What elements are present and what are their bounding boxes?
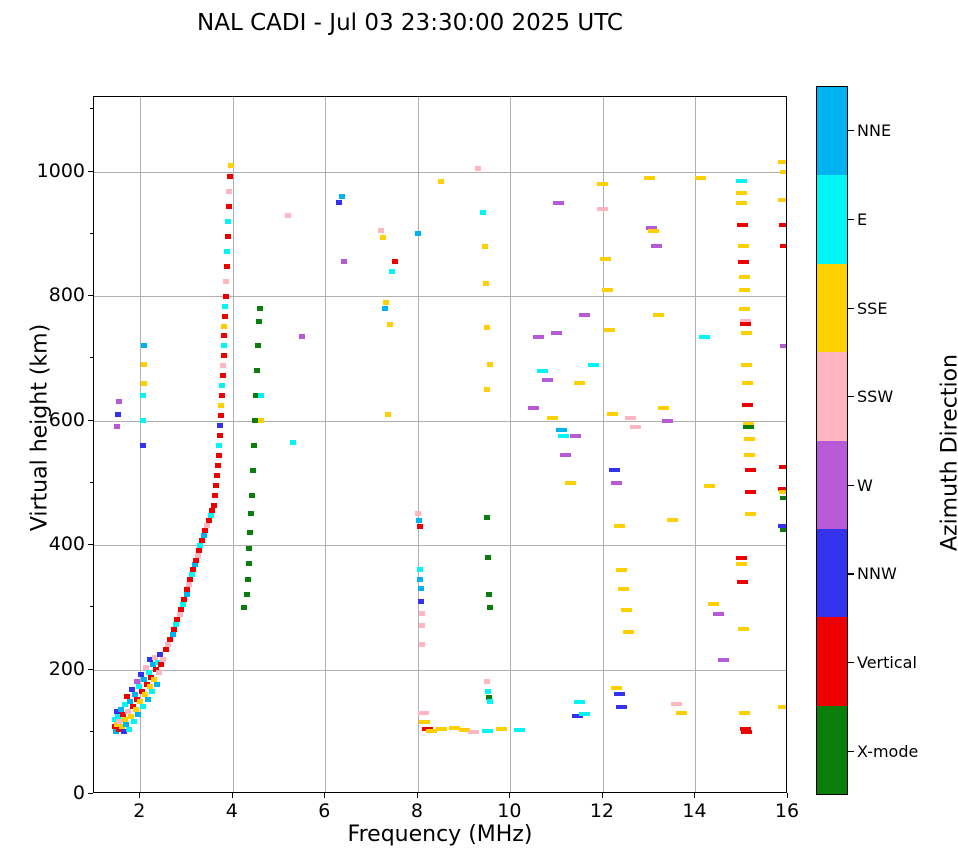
echo-point — [223, 279, 229, 284]
echo-point — [653, 313, 664, 317]
echo-point — [695, 176, 706, 180]
echo-point — [170, 632, 176, 637]
ytick-mark-600 — [88, 420, 93, 421]
echo-point — [163, 647, 169, 652]
echo-point — [607, 412, 618, 416]
ytick-minor-500 — [90, 482, 93, 483]
echo-point — [738, 627, 749, 631]
ytick-mark-1000 — [88, 171, 93, 172]
echo-point — [718, 658, 729, 662]
echo-point — [216, 453, 222, 458]
echo-point — [739, 307, 750, 311]
echo-point — [742, 381, 753, 385]
ytick-minor-900 — [90, 233, 93, 234]
x-axis-label: Frequency (MHz) — [93, 822, 787, 847]
echo-point — [736, 191, 747, 195]
echo-point — [778, 705, 787, 709]
echo-point — [574, 700, 585, 704]
colorbar — [816, 86, 848, 795]
echo-point — [299, 334, 305, 339]
echo-point — [484, 679, 490, 684]
echo-point — [158, 662, 164, 667]
echo-point — [141, 343, 147, 348]
echo-point — [201, 533, 207, 538]
colorbar-label: Azimuth Direction — [938, 203, 958, 703]
echo-point — [419, 623, 425, 628]
echo-point — [184, 592, 190, 597]
echo-point — [171, 627, 177, 632]
echo-point — [418, 586, 424, 591]
echo-point — [739, 711, 750, 715]
echo-point — [484, 325, 490, 330]
echo-point — [254, 368, 260, 373]
ytick-minor-100 — [90, 731, 93, 732]
echo-point — [542, 378, 553, 382]
colorbar-segment-x-mode — [817, 706, 847, 794]
echo-point — [378, 228, 384, 233]
echo-point — [487, 362, 493, 367]
echo-point — [485, 555, 491, 560]
echo-point — [392, 259, 398, 264]
echo-point — [475, 166, 481, 171]
echo-point — [743, 425, 754, 429]
echo-point — [553, 201, 564, 205]
echo-point — [651, 244, 662, 248]
echo-point — [579, 712, 590, 716]
echo-point — [202, 528, 208, 533]
echo-point — [199, 538, 205, 543]
echo-point — [780, 528, 787, 532]
echo-point — [285, 213, 291, 218]
echo-point — [221, 324, 227, 329]
echo-point — [140, 418, 146, 423]
echo-point — [244, 592, 250, 597]
echo-point — [671, 702, 682, 706]
echo-point — [225, 234, 231, 239]
echo-point — [744, 453, 755, 457]
colorbar-tick — [848, 662, 854, 663]
echo-point — [570, 434, 581, 438]
echo-point — [212, 493, 218, 498]
colorbar-label-ssw: SSW — [857, 387, 893, 406]
echo-point — [382, 306, 388, 311]
echo-point — [662, 419, 673, 423]
echo-point — [220, 373, 226, 378]
echo-point — [339, 194, 345, 199]
ionogram-figure: NAL CADI - Jul 03 23:30:00 2025 UTC 2468… — [0, 0, 958, 857]
echo-point — [213, 483, 219, 488]
echo-point — [154, 682, 160, 687]
echo-point — [602, 288, 613, 292]
colorbar-segment-nne — [817, 87, 847, 175]
echo-point — [623, 630, 634, 634]
echo-point — [780, 170, 787, 174]
echo-point — [218, 413, 224, 418]
echo-point — [387, 322, 393, 327]
echo-point — [487, 605, 493, 610]
echo-point — [180, 602, 186, 607]
echo-point — [736, 562, 747, 566]
echo-point — [187, 577, 193, 582]
echo-point — [258, 418, 264, 423]
xtick-label-4: 4 — [212, 800, 252, 822]
echo-point — [676, 711, 687, 715]
xtick-mark-2 — [139, 793, 140, 798]
echo-point — [600, 257, 611, 261]
echo-point — [713, 612, 724, 616]
echo-point — [745, 490, 756, 494]
echo-point — [167, 637, 173, 642]
ytick-mark-800 — [88, 295, 93, 296]
data-layer — [94, 97, 786, 792]
echo-point — [514, 728, 525, 732]
echo-point — [740, 322, 751, 326]
echo-point — [780, 244, 787, 248]
echo-point — [156, 670, 162, 675]
echo-point — [419, 642, 425, 647]
echo-point — [745, 468, 756, 472]
echo-point — [222, 314, 228, 319]
echo-point — [736, 556, 747, 560]
echo-point — [736, 179, 747, 183]
xtick-label-2: 2 — [119, 800, 159, 822]
echo-point — [177, 612, 183, 617]
echo-point — [778, 198, 787, 202]
xtick-label-12: 12 — [582, 800, 622, 822]
echo-point — [221, 353, 227, 358]
xtick-mark-14 — [694, 793, 695, 798]
echo-point — [336, 200, 342, 205]
xtick-mark-16 — [787, 793, 788, 798]
echo-point — [417, 567, 423, 572]
echo-point — [418, 711, 429, 715]
echo-point — [225, 219, 231, 224]
echo-point — [140, 443, 146, 448]
echo-point — [184, 587, 190, 592]
echo-point — [486, 592, 492, 597]
echo-point — [290, 440, 296, 445]
echo-point — [116, 399, 122, 404]
colorbar-label-sse: SSE — [857, 299, 887, 318]
xtick-label-14: 14 — [674, 800, 714, 822]
echo-point — [436, 727, 447, 731]
xtick-mark-12 — [602, 793, 603, 798]
echo-point — [487, 699, 493, 704]
colorbar-segment-w — [817, 441, 847, 529]
echo-point — [609, 468, 620, 472]
echo-point — [739, 288, 750, 292]
echo-point — [227, 174, 233, 179]
echo-point — [341, 259, 347, 264]
echo-point — [219, 393, 225, 398]
echo-point — [616, 705, 627, 709]
echo-point — [258, 393, 264, 398]
colorbar-tick — [848, 573, 854, 574]
echo-point — [215, 463, 221, 468]
echo-point — [226, 204, 232, 209]
colorbar-tick — [848, 130, 854, 131]
echo-point — [614, 524, 625, 528]
echo-point — [699, 335, 710, 339]
echo-point — [186, 582, 192, 587]
xtick-mark-6 — [324, 793, 325, 798]
echo-point — [246, 546, 252, 551]
echo-point — [173, 622, 179, 627]
echo-point — [251, 443, 257, 448]
y-axis-label: Virtual height (km) — [28, 128, 53, 728]
echo-point — [224, 249, 230, 254]
echo-point — [220, 363, 226, 368]
xtick-label-8: 8 — [397, 800, 437, 822]
echo-point — [419, 611, 425, 616]
colorbar-segment-ssw — [817, 352, 847, 440]
echo-point — [380, 235, 386, 240]
echo-point — [558, 434, 569, 438]
echo-point — [618, 587, 629, 591]
ytick-minor-1100 — [90, 108, 93, 109]
echo-point — [415, 511, 421, 516]
echo-point — [579, 313, 590, 317]
echo-point — [648, 229, 659, 233]
echo-point — [482, 729, 493, 733]
echo-point — [614, 692, 625, 696]
echo-point — [257, 306, 263, 311]
ytick-minor-300 — [90, 606, 93, 607]
ytick-label-0: 0 — [0, 782, 85, 804]
echo-point — [745, 512, 756, 516]
echo-point — [126, 727, 132, 732]
echo-point — [223, 294, 229, 299]
colorbar-tick — [848, 219, 854, 220]
echo-point — [211, 503, 217, 508]
echo-point — [417, 524, 423, 529]
echo-point — [250, 468, 256, 473]
echo-point — [738, 244, 749, 248]
echo-point — [141, 362, 147, 367]
echo-point — [222, 304, 228, 309]
colorbar-label-vertical: Vertical — [857, 653, 917, 672]
echo-point — [604, 328, 615, 332]
echo-point — [248, 511, 254, 516]
echo-point — [556, 428, 567, 432]
echo-point — [438, 179, 444, 184]
echo-point — [226, 189, 232, 194]
colorbar-segment-sse — [817, 264, 847, 352]
echo-point — [537, 369, 548, 373]
echo-point — [256, 319, 262, 324]
echo-point — [658, 406, 669, 410]
echo-point — [247, 530, 253, 535]
echo-point — [417, 577, 423, 582]
echo-point — [484, 387, 490, 392]
echo-point — [418, 599, 424, 604]
echo-point — [209, 508, 215, 513]
xtick-mark-10 — [509, 793, 510, 798]
echo-point — [216, 443, 222, 448]
echo-point — [630, 425, 641, 429]
echo-point — [744, 437, 755, 441]
echo-point — [621, 608, 632, 612]
echo-point — [551, 331, 562, 335]
echo-point — [737, 223, 748, 227]
echo-point — [533, 335, 544, 339]
echo-point — [560, 453, 571, 457]
echo-point — [249, 493, 255, 498]
echo-point — [190, 567, 196, 572]
ytick-mark-200 — [88, 669, 93, 670]
echo-point — [625, 416, 636, 420]
colorbar-tick — [848, 485, 854, 486]
echo-point — [480, 210, 486, 215]
ytick-minor-700 — [90, 357, 93, 358]
echo-point — [245, 577, 251, 582]
echo-point — [597, 207, 608, 211]
echo-point — [565, 481, 576, 485]
echo-point — [468, 730, 479, 734]
echo-point — [419, 720, 430, 724]
colorbar-label-e: E — [857, 210, 867, 229]
echo-point — [197, 543, 203, 548]
echo-point — [389, 269, 395, 274]
xtick-mark-4 — [232, 793, 233, 798]
echo-point — [174, 617, 180, 622]
echo-point — [780, 344, 787, 348]
echo-point — [246, 561, 252, 566]
xtick-label-16: 16 — [767, 800, 807, 822]
echo-point — [140, 393, 146, 398]
echo-point — [221, 333, 227, 338]
echo-point — [416, 518, 422, 523]
echo-point — [204, 523, 210, 528]
echo-point — [644, 176, 655, 180]
echo-point — [496, 727, 507, 731]
echo-point — [739, 275, 750, 279]
echo-point — [221, 343, 227, 348]
echo-point — [780, 496, 787, 500]
echo-point — [611, 481, 622, 485]
echo-point — [224, 264, 230, 269]
echo-point — [228, 163, 234, 168]
colorbar-tick — [848, 308, 854, 309]
xtick-label-10: 10 — [489, 800, 529, 822]
page-title: NAL CADI - Jul 03 23:30:00 2025 UTC — [0, 10, 820, 36]
echo-point — [779, 465, 787, 469]
echo-point — [485, 689, 491, 694]
echo-point — [114, 424, 120, 429]
echo-point — [241, 605, 247, 610]
echo-point — [193, 558, 199, 563]
colorbar-segment-nnw — [817, 529, 847, 617]
echo-point — [217, 433, 223, 438]
echo-point — [742, 403, 753, 407]
echo-point — [208, 513, 214, 518]
echo-point — [667, 518, 678, 522]
echo-point — [385, 412, 391, 417]
colorbar-segment-vertical — [817, 617, 847, 705]
plot-area — [93, 96, 787, 793]
echo-point — [206, 518, 212, 523]
echo-point — [131, 719, 137, 724]
echo-point — [165, 642, 171, 647]
echo-point — [255, 343, 261, 348]
echo-point — [181, 597, 187, 602]
xtick-label-6: 6 — [304, 800, 344, 822]
echo-point — [189, 572, 195, 577]
colorbar-label-nnw: NNW — [857, 564, 897, 583]
echo-point — [574, 381, 585, 385]
echo-point — [779, 223, 787, 227]
echo-point — [178, 607, 184, 612]
echo-point — [704, 484, 715, 488]
echo-point — [484, 515, 490, 520]
ytick-mark-400 — [88, 544, 93, 545]
echo-point — [741, 363, 752, 367]
echo-point — [547, 416, 558, 420]
echo-point — [741, 331, 752, 335]
ytick-mark-0 — [88, 793, 93, 794]
echo-point — [741, 730, 752, 734]
echo-point — [115, 412, 121, 417]
echo-point — [738, 260, 749, 264]
echo-point — [145, 697, 151, 702]
echo-point — [217, 423, 223, 428]
echo-point — [252, 418, 258, 423]
colorbar-tick — [848, 396, 854, 397]
colorbar-segment-e — [817, 175, 847, 263]
echo-point — [214, 473, 220, 478]
echo-point — [708, 602, 719, 606]
echo-point — [135, 712, 141, 717]
echo-point — [779, 490, 787, 494]
echo-point — [195, 553, 201, 558]
echo-point — [737, 580, 748, 584]
echo-point — [383, 300, 389, 305]
echo-point — [528, 406, 539, 410]
echo-point — [192, 562, 198, 567]
echo-point — [140, 704, 146, 709]
colorbar-label-nne: NNE — [857, 121, 891, 140]
echo-point — [482, 244, 488, 249]
echo-point — [219, 383, 225, 388]
colorbar-label-w: W — [857, 476, 873, 495]
colorbar-label-x-mode: X-mode — [857, 742, 918, 761]
echo-point — [778, 160, 787, 164]
echo-point — [588, 363, 599, 367]
echo-point — [160, 657, 166, 662]
echo-point — [141, 381, 147, 386]
echo-point — [415, 231, 421, 236]
echo-point — [736, 201, 747, 205]
colorbar-tick — [848, 751, 854, 752]
xtick-mark-8 — [417, 793, 418, 798]
echo-point — [218, 403, 224, 408]
echo-point — [616, 568, 627, 572]
echo-point — [597, 182, 608, 186]
echo-point — [483, 281, 489, 286]
echo-point — [196, 548, 202, 553]
echo-point — [611, 686, 622, 690]
echo-point — [149, 689, 155, 694]
